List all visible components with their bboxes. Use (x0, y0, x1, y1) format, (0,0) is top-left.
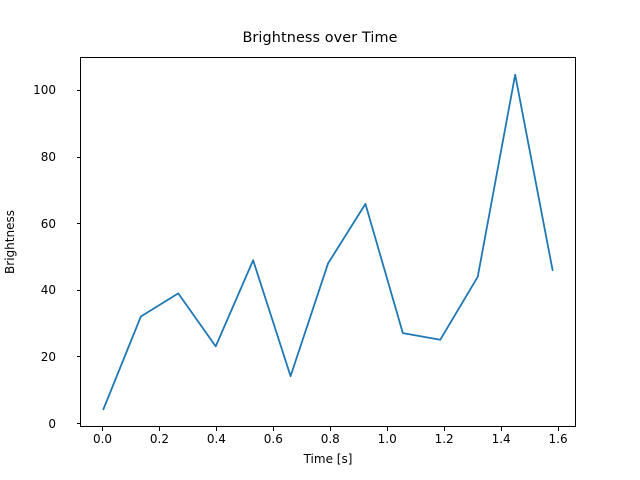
y-axis-label: Brightness (0, 57, 20, 427)
x-tick-mark (216, 427, 217, 431)
y-tick-mark (77, 356, 81, 357)
matplotlib-figure: Brightness over Time Brightness Time [s]… (0, 0, 640, 480)
x-tick-mark (558, 427, 559, 431)
chart-title: Brightness over Time (0, 30, 640, 46)
x-tick-mark (159, 427, 160, 431)
x-axis-label: Time [s] (80, 452, 576, 466)
y-tick-mark (77, 90, 81, 91)
y-tick-label: 0 (0, 417, 56, 431)
x-tick-mark (102, 427, 103, 431)
y-tick-label: 100 (0, 83, 56, 97)
y-tick-label: 80 (0, 150, 56, 164)
y-tick-mark (77, 157, 81, 158)
plot-axes (80, 57, 576, 427)
line-plot-svg (81, 58, 575, 426)
x-tick-mark (444, 427, 445, 431)
x-tick-label: 1.6 (523, 432, 593, 446)
data-series-line (103, 75, 552, 410)
y-tick-label: 20 (0, 350, 56, 364)
y-tick-label: 60 (0, 217, 56, 231)
y-tick-label: 40 (0, 283, 56, 297)
x-tick-mark (273, 427, 274, 431)
x-tick-mark (387, 427, 388, 431)
x-tick-mark (330, 427, 331, 431)
y-tick-mark (77, 423, 81, 424)
y-tick-mark (77, 223, 81, 224)
y-tick-mark (77, 290, 81, 291)
x-tick-mark (501, 427, 502, 431)
